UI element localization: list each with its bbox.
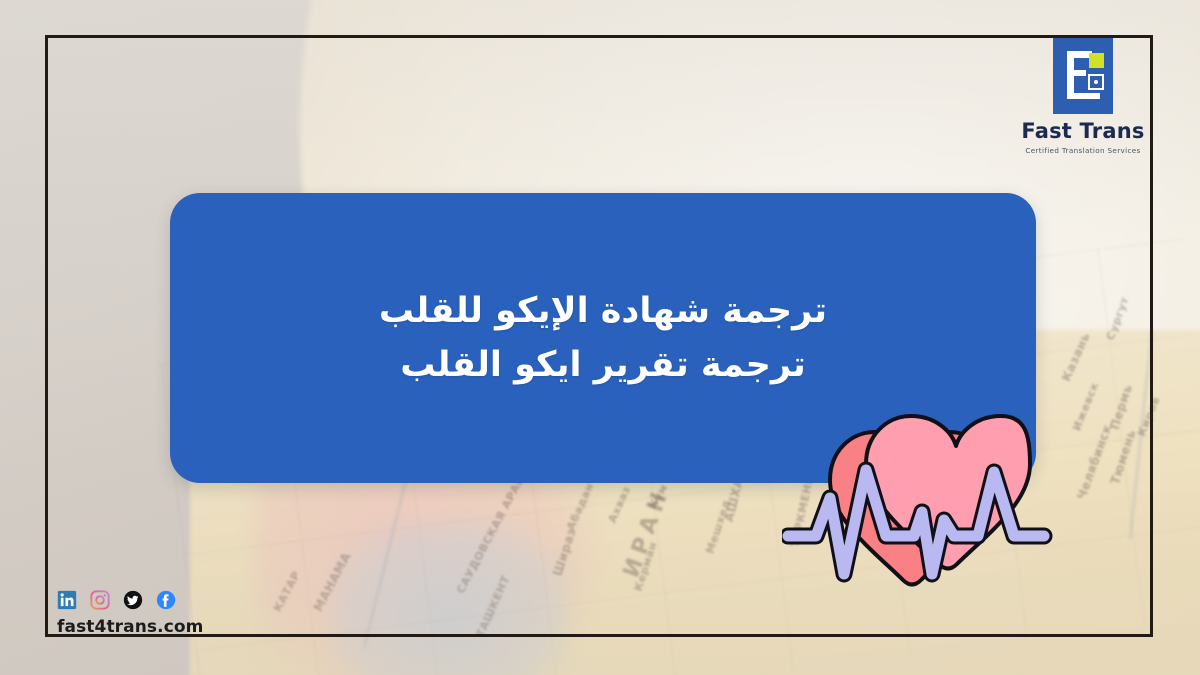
- twitter-link[interactable]: [123, 590, 143, 610]
- fast-trans-logo-mark-icon: [1053, 38, 1113, 114]
- footer: fast4trans.com: [57, 590, 203, 637]
- instagram-link[interactable]: [90, 590, 110, 610]
- heart-ecg-illustration: [782, 388, 1086, 620]
- website-url[interactable]: fast4trans.com: [57, 617, 203, 637]
- twitter-icon[interactable]: [123, 590, 143, 610]
- page-title-line-1: ترجمة شهادة الإيكو للقلب: [379, 284, 827, 338]
- brand-name: Fast Trans: [1018, 120, 1148, 143]
- linkedin-link[interactable]: [57, 590, 77, 610]
- linkedin-icon[interactable]: [57, 590, 77, 610]
- instagram-icon[interactable]: [90, 590, 110, 610]
- page-title-line-2: ترجمة تقرير ايكو القلب: [379, 338, 827, 392]
- facebook-link[interactable]: [156, 590, 176, 610]
- social-links: [57, 590, 203, 610]
- title-text-block: ترجمة شهادة الإيكو للقلب ترجمة تقرير ايك…: [339, 284, 867, 393]
- brand-tagline: Certified Translation Services: [1018, 146, 1148, 155]
- banner-canvas: САУДОВСКАЯ АРАВИЯ ИРАН МАНАМА КАТАР Шира…: [0, 0, 1200, 675]
- brand-logo: Fast Trans Certified Translation Service…: [1018, 38, 1148, 155]
- facebook-icon[interactable]: [156, 590, 176, 610]
